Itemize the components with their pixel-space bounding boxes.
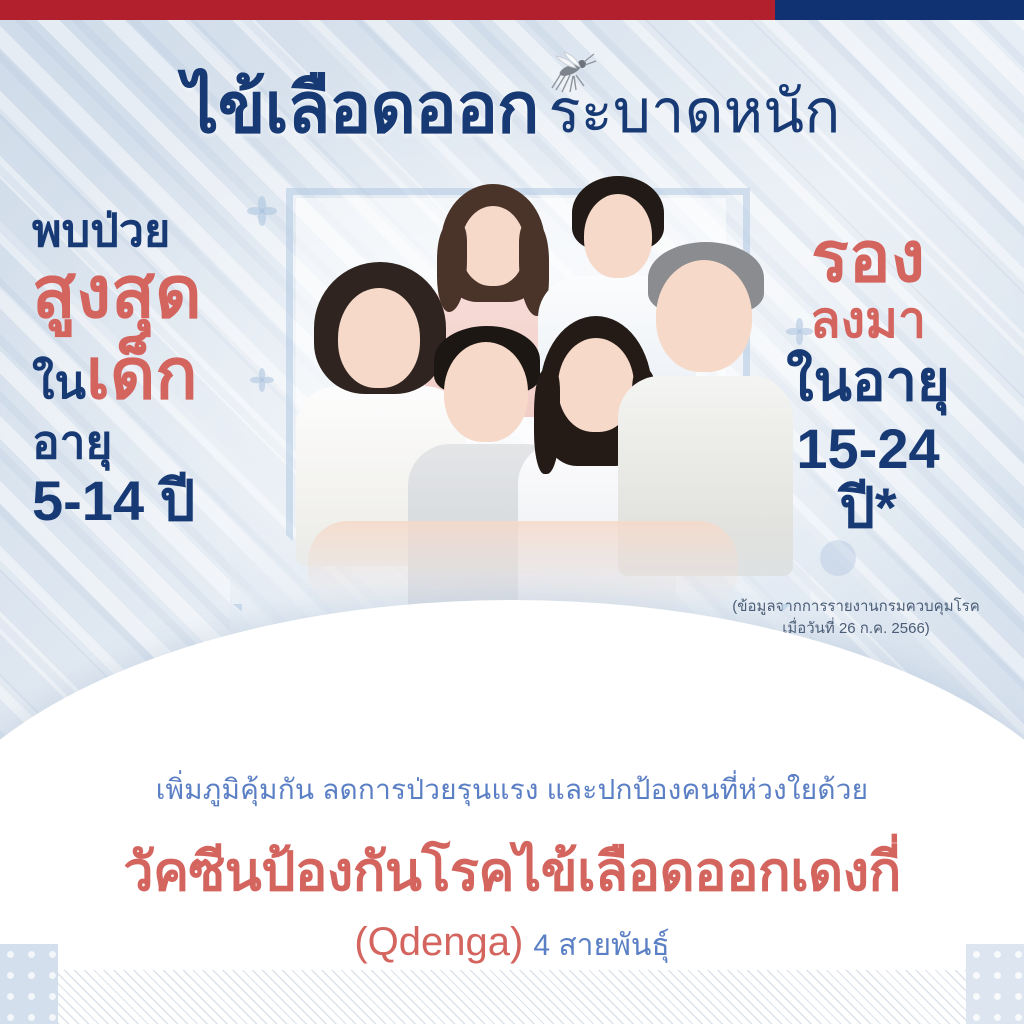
- right-stat-line-4: 15-24: [738, 420, 998, 477]
- bottom-brand-row: (Qdenga)4 สายพันธุ์: [0, 920, 1024, 969]
- dot-pattern-left: [0, 944, 58, 1024]
- top-color-bar: [0, 0, 1024, 20]
- top-bar-navy-segment: [775, 0, 1024, 20]
- left-stat-line-5: 5-14 ปี: [32, 473, 294, 529]
- brand-name: (Qdenga): [354, 920, 523, 964]
- page-title: ไข้เลือดออกระบาดหนัก: [0, 52, 1024, 163]
- left-stat-line-2: สูงสุด: [32, 257, 294, 329]
- left-stat-line-3: ในเด็ก: [32, 339, 294, 409]
- left-stat-line-3-highlight: เด็ก: [86, 335, 198, 413]
- top-bar-red-segment: [0, 0, 775, 20]
- right-stat-line-3: ในอายุ: [738, 352, 998, 409]
- bottom-subtitle: เพิ่มภูมิคุ้มกัน ลดการป่วยรุนแรง และปกป้…: [0, 768, 1024, 812]
- right-stat-line-2: ลงมา: [738, 295, 998, 346]
- right-statistic-block: รอง ลงมา ในอายุ 15-24 ปี*: [738, 222, 998, 536]
- left-stat-line-1: พบป่วย: [32, 208, 294, 253]
- bottom-headline: วัคซีนป้องกันโรคไข้เลือดออกเดงกี่: [0, 828, 1024, 914]
- poster-canvas: ไข้เลือดออกระบาดหนัก พบป่วย สูงสุด ในเด็…: [0, 0, 1024, 1024]
- strain-count: 4 สายพันธุ์: [533, 929, 669, 962]
- family-photo: [248, 176, 788, 616]
- left-statistic-block: พบป่วย สูงสุด ในเด็ก อายุ 5-14 ปี: [32, 208, 294, 529]
- mosquito-icon: [540, 48, 600, 102]
- right-stat-line-1: รอง: [738, 222, 998, 293]
- left-stat-line-3-prefix: ใน: [32, 356, 86, 408]
- left-stat-line-4: อายุ: [32, 419, 294, 465]
- dot-pattern-right: [966, 944, 1024, 1024]
- circle-decoration: [820, 540, 856, 576]
- title-highlight: ไข้เลือดออก: [184, 69, 539, 147]
- right-stat-line-5: ปี*: [738, 479, 998, 536]
- hatch-pattern: [58, 970, 966, 1024]
- bottom-panel-text: เพิ่มภูมิคุ้มกัน ลดการป่วยรุนแรง และปกป้…: [0, 768, 1024, 969]
